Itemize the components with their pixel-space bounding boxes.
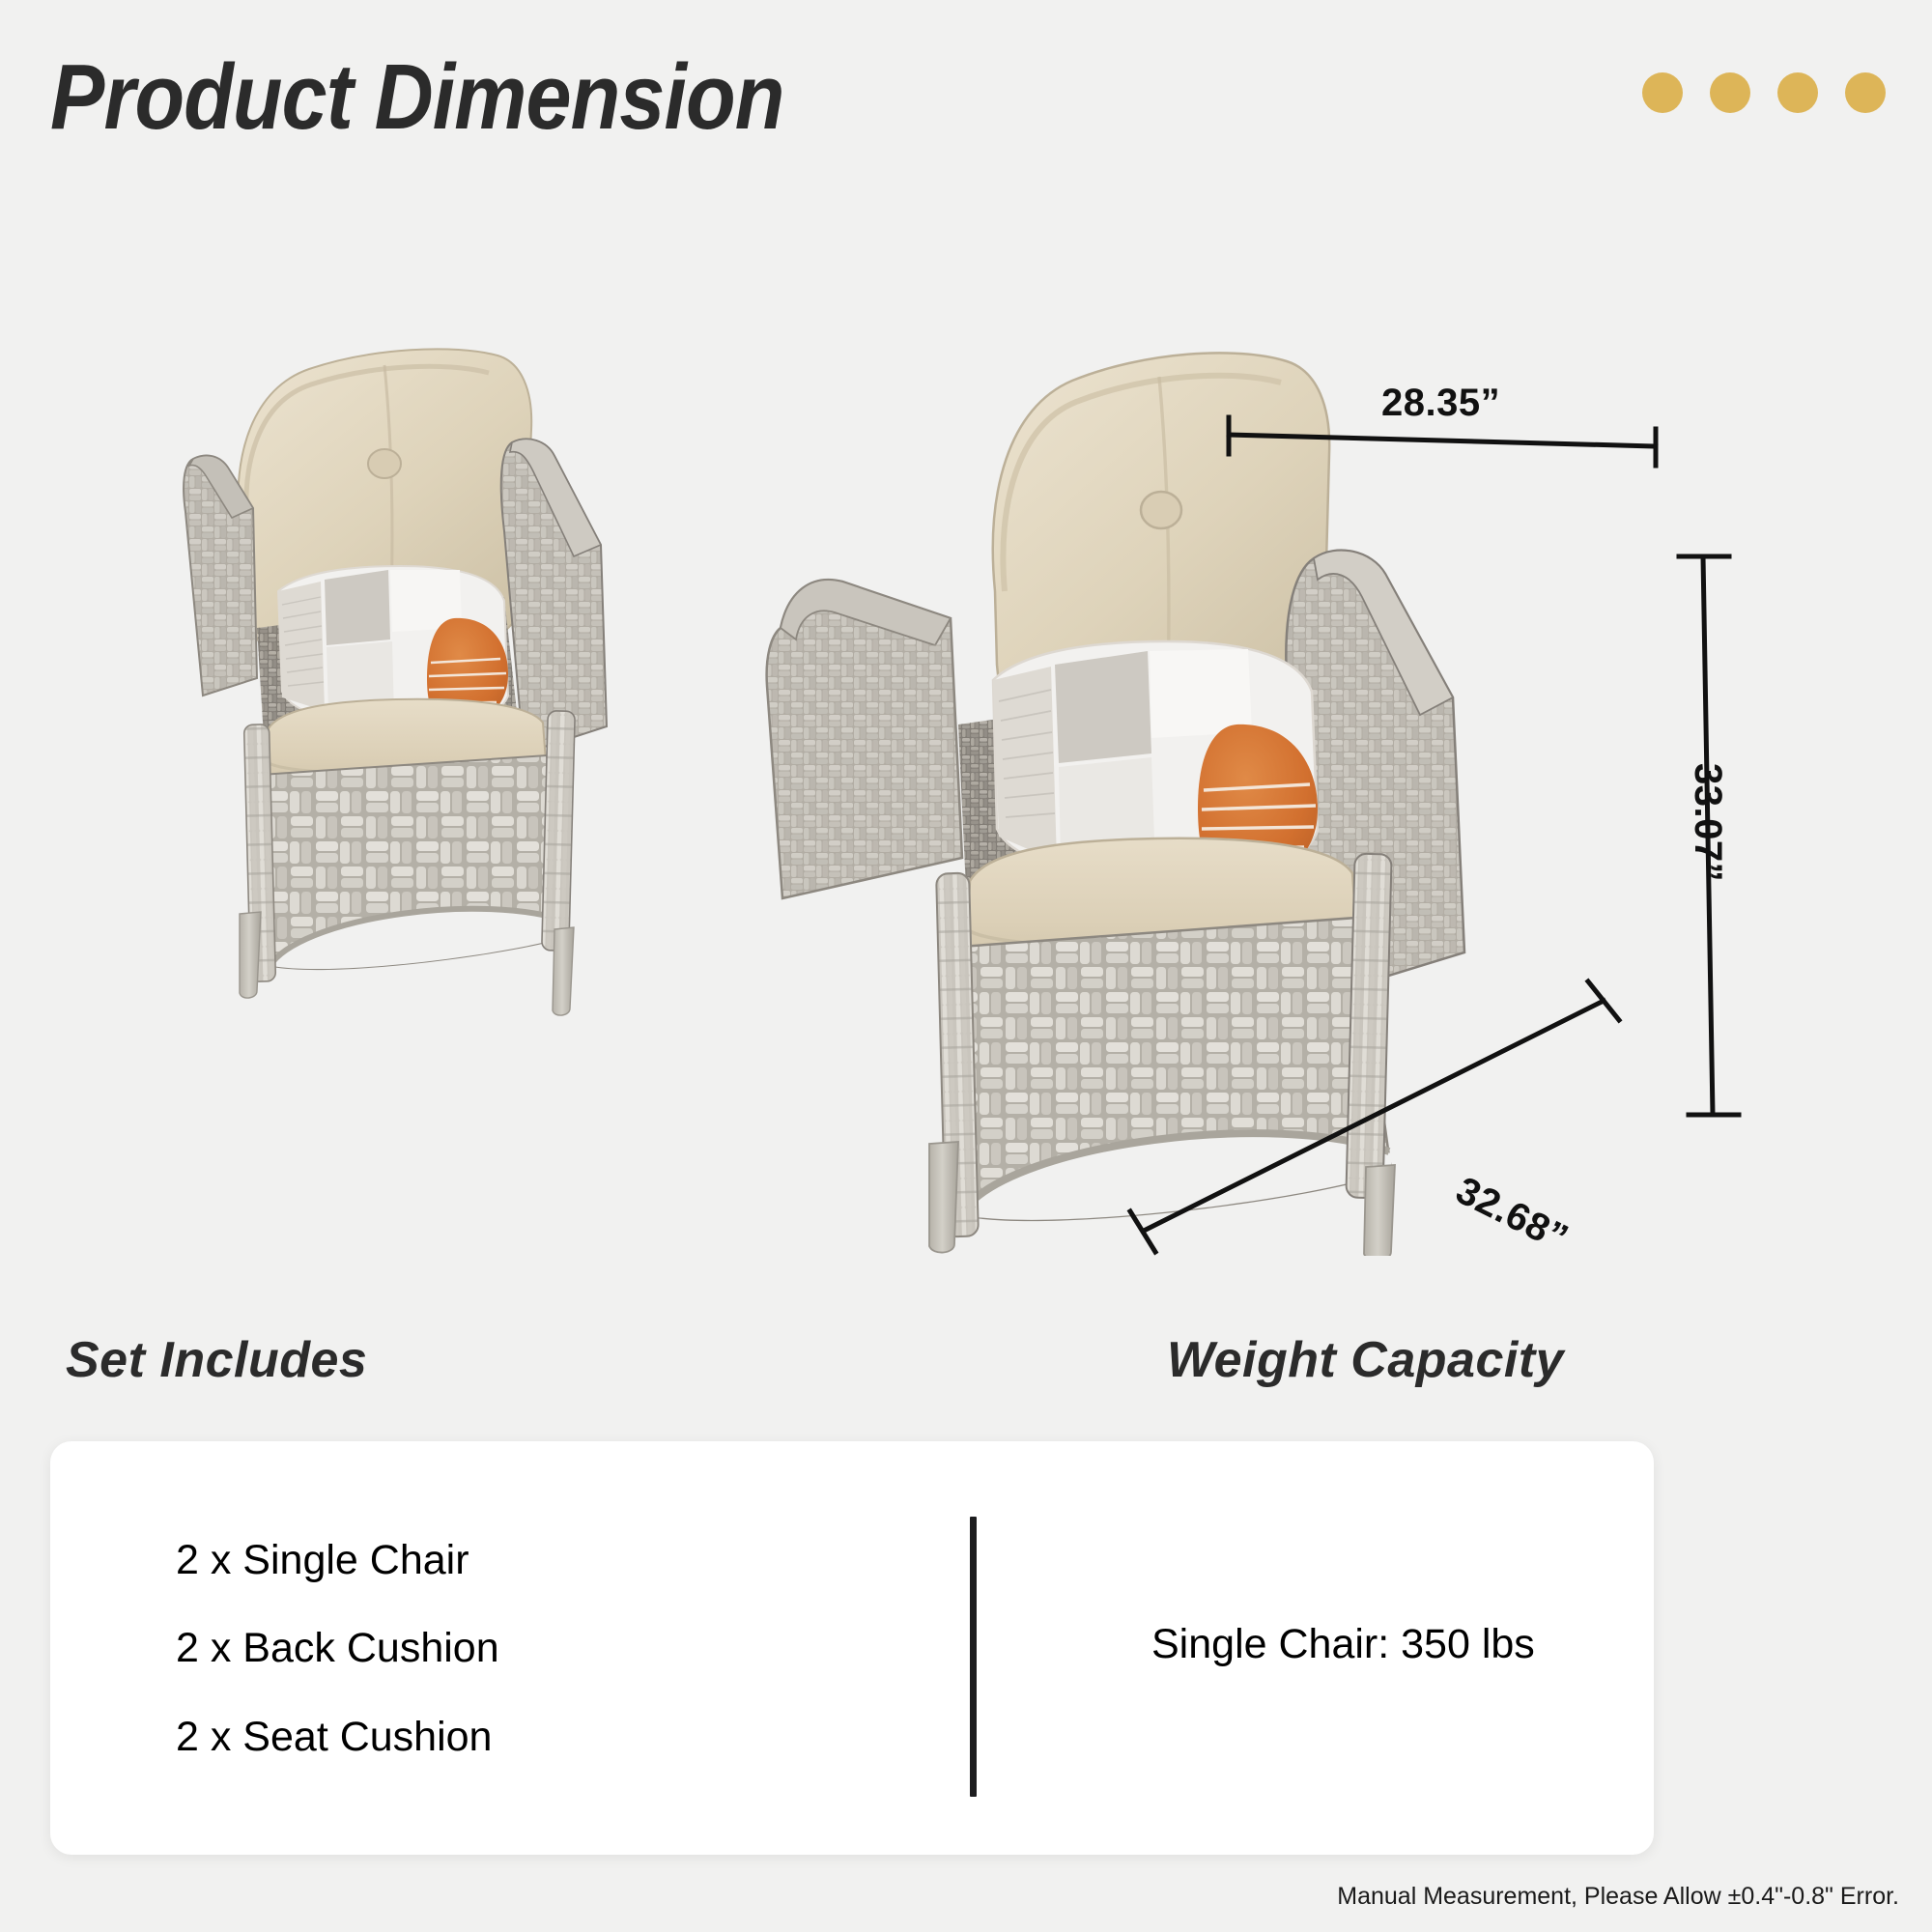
- chair-illustration-right: [753, 338, 1526, 1256]
- chair-base-left: [261, 755, 570, 969]
- leg-front-left: [240, 912, 261, 998]
- card-divider: [970, 1517, 977, 1797]
- tufting-button-left: [368, 449, 401, 478]
- set-includes-heading: Set Includes: [66, 1331, 367, 1389]
- weight-capacity-value: Single Chair: 350 lbs: [1151, 1621, 1535, 1668]
- dot-1: [1642, 72, 1683, 113]
- tufting-button-right: [1141, 492, 1181, 528]
- product-image-stage: [0, 193, 1932, 1285]
- front-post-right: [542, 711, 575, 952]
- list-item: 2 x Seat Cushion: [176, 1715, 499, 1760]
- chair-illustration-left: [164, 338, 763, 1053]
- dot-4: [1845, 72, 1886, 113]
- dimension-width-label: 28.35”: [1381, 382, 1500, 425]
- list-item: 2 x Back Cushion: [176, 1626, 499, 1671]
- dot-3: [1777, 72, 1818, 113]
- leg-front-right: [553, 927, 574, 1015]
- set-includes-list: 2 x Single Chair 2 x Back Cushion 2 x Se…: [176, 1538, 499, 1760]
- dimension-height-label: 33.07”: [1686, 763, 1729, 882]
- arm-left-far-r: [767, 580, 962, 898]
- measurement-footnote: Manual Measurement, Please Allow ±0.4"-0…: [1337, 1883, 1899, 1911]
- front-post-right-r: [1346, 854, 1391, 1199]
- chair-base-right: [960, 918, 1391, 1220]
- leg-front-right-r: [1364, 1165, 1395, 1256]
- info-card: 2 x Single Chair 2 x Back Cushion 2 x Se…: [50, 1441, 1654, 1855]
- arm-right-near: [501, 439, 607, 753]
- leg-front-left-r: [929, 1142, 958, 1253]
- product-dimension-page: Product Dimension: [0, 0, 1932, 1932]
- list-item: 2 x Single Chair: [176, 1538, 499, 1583]
- weight-capacity-heading: Weight Capacity: [1167, 1331, 1564, 1389]
- decorative-dots: [1642, 72, 1886, 113]
- dot-2: [1710, 72, 1750, 113]
- page-title: Product Dimension: [50, 46, 784, 149]
